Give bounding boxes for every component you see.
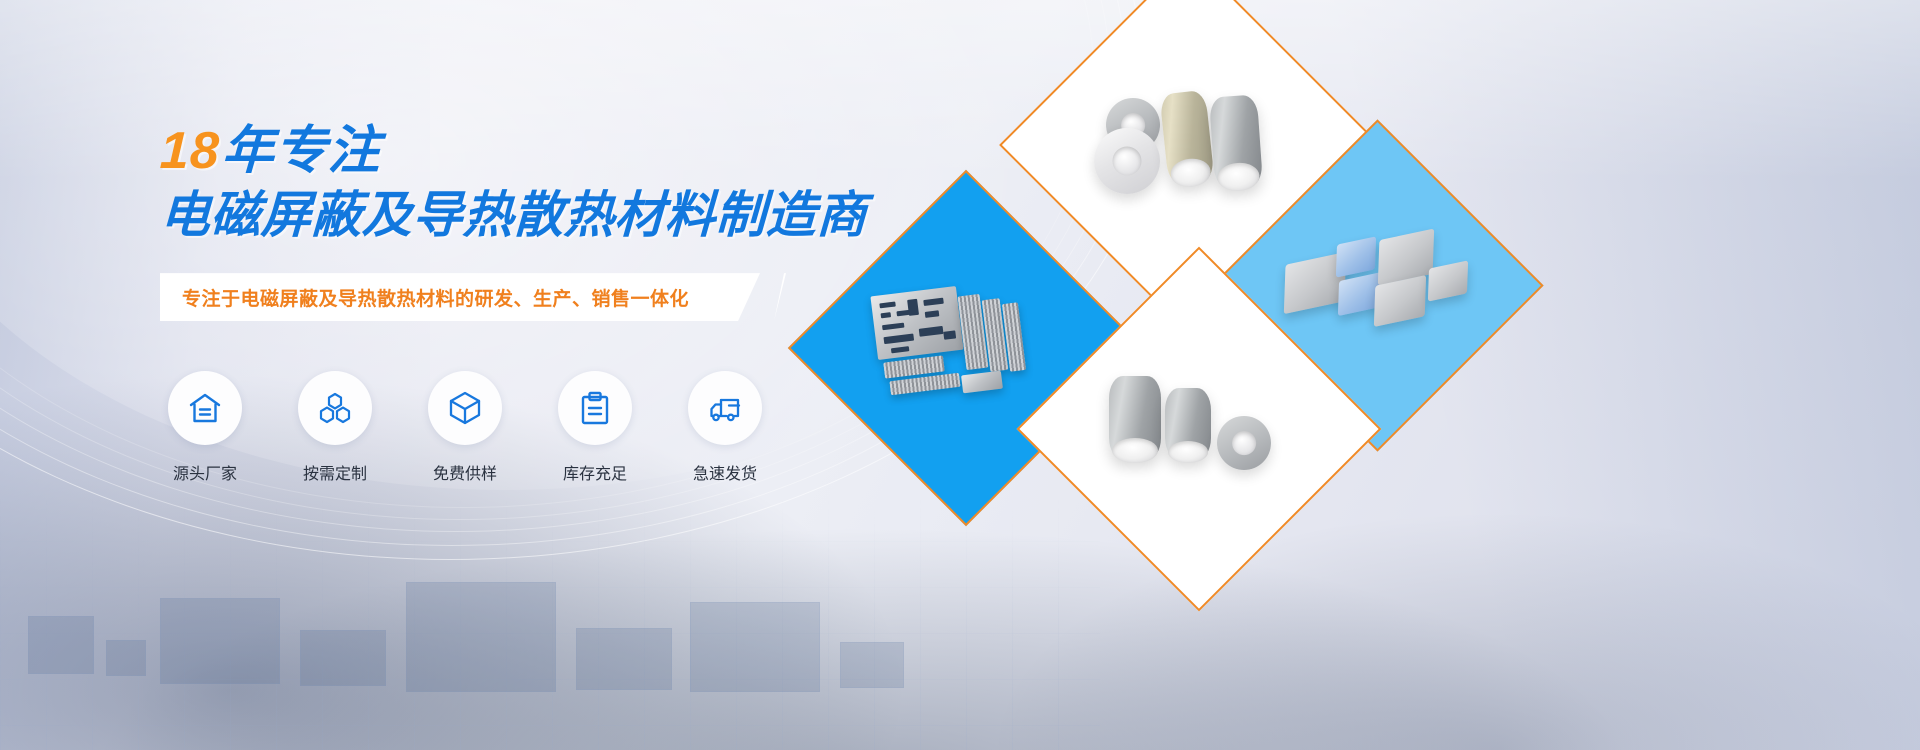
feature-item-custom-made[interactable]: 按需定制 [294,371,376,484]
subtitle-text: 专注于电磁屏蔽及导热散热材料的研发、生产、销售一体化 [160,284,689,311]
feature-icon-circle [168,371,242,445]
subtitle-accent-slash [774,273,786,321]
cube-icon [445,388,485,428]
feature-item-free-sample[interactable]: 免费供样 [424,371,506,484]
clipboard-icon [575,388,615,428]
feature-label: 库存充足 [563,460,627,484]
feature-item-stock-available[interactable]: 库存充足 [554,371,636,484]
feature-icon-circle [688,371,762,445]
subtitle-bar-shape: 专注于电磁屏蔽及导热散热材料的研发、生产、销售一体化 [160,273,760,321]
background-machine-blocks [10,520,990,710]
headline-line-2: 电磁屏蔽及导热散热材料制造商 [159,188,981,243]
thermal-pads-art [1278,211,1478,361]
product-gallery [960,0,1920,750]
feature-item-source-factory[interactable]: 源头厂家 [164,371,246,484]
feature-label: 按需定制 [303,460,367,484]
hexagons-icon [315,388,355,428]
feature-item-fast-shipping[interactable]: 急速发货 [684,371,766,484]
feature-label: 免费供样 [433,460,497,484]
feature-list: 源头厂家 按需定制 [164,371,980,484]
hero-banner: 18年专注 电磁屏蔽及导热散热材料制造商 专注于电磁屏蔽及导热散热材料的研发、生… [0,0,1920,750]
feature-label: 急速发货 [693,460,757,484]
shielding-tape-rolls-art [1099,354,1299,504]
subtitle-banner: 专注于电磁屏蔽及导热散热材料的研发、生产、销售一体化 [160,273,786,321]
feature-icon-circle [298,371,372,445]
feature-icon-circle [558,371,632,445]
headline-line-1: 18年专注 [159,124,981,178]
feature-icon-circle [428,371,502,445]
headline-years-number: 18 [159,122,221,180]
headline-years-suffix: 年专注 [221,122,382,180]
hero-content: 18年专注 电磁屏蔽及导热散热材料制造商 专注于电磁屏蔽及导热散热材料的研发、生… [160,124,980,484]
conductive-tape-rolls-art [1090,70,1290,220]
factory-icon [185,388,225,428]
truck-icon [705,388,745,428]
feature-label: 源头厂家 [173,460,237,484]
